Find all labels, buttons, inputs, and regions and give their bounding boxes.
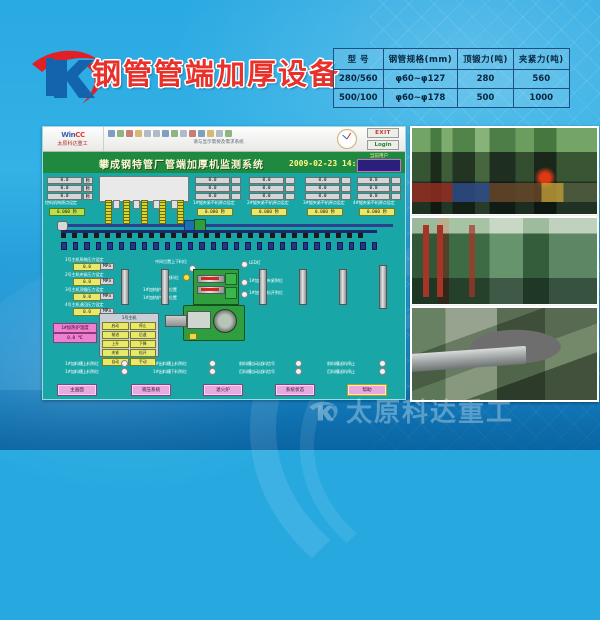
param-value: 0.0 <box>47 185 82 192</box>
hmi-title-bar: 攀成钢特管厂管端加厚机监测系统 2009-02-23 14:29:24 当前用户 <box>43 152 405 174</box>
param-value: 0.0 <box>305 193 340 200</box>
machine-control-panel: 1号主机 启动 停止 前进 后退 上升 下降 夹紧 松开 自动 手动 <box>99 313 159 357</box>
photo-image <box>412 218 597 304</box>
exit-button[interactable]: EXIT <box>367 128 399 138</box>
param-value: 0.0 <box>357 177 390 184</box>
current-user-field[interactable] <box>357 159 401 172</box>
param-unit: 秒 <box>83 185 93 192</box>
param-value: 0.0 <box>195 193 230 200</box>
roller <box>360 242 366 250</box>
control-panel-title: 1号主机 <box>100 314 158 321</box>
control-btn[interactable]: 下降 <box>130 340 157 348</box>
status-lamp-1 <box>121 360 128 367</box>
spec-header-upset-force: 顶锻力(吨) <box>458 49 514 70</box>
roller <box>61 242 67 250</box>
cell-upset-force: 280 <box>458 70 514 89</box>
valve-4 <box>171 200 178 209</box>
roller-top <box>83 233 88 238</box>
roller-top <box>138 233 143 238</box>
setting-value-2[interactable]: 0.0 <box>73 278 101 286</box>
roller <box>337 242 343 250</box>
watermark: 太原科达重工 <box>306 392 514 429</box>
roller-top <box>171 233 176 238</box>
param-group-left: 0.0 秒 0.0 秒 0.0 秒 <box>47 177 93 200</box>
roller-top <box>94 233 99 238</box>
param-unit <box>285 193 295 200</box>
led-label: LED灯 <box>249 260 261 266</box>
cell-pipe-size: φ60~φ127 <box>383 70 457 89</box>
photo-pipe-closeup <box>410 306 599 402</box>
valve-2 <box>133 200 140 209</box>
vertical-cylinder-3 <box>259 269 267 305</box>
param-group-1-readout: 0.000 秒 <box>197 208 233 216</box>
table-row: 500/100 φ60~φ178 500 1000 <box>334 89 570 108</box>
param-unit: 秒 <box>83 177 93 184</box>
valve-1 <box>113 200 120 209</box>
hmi-toolbar: WinCC 太原科达重工 请与显示需要及需求系统 <box>43 127 405 152</box>
status-label-6: 后料槽自动送料信号 <box>239 369 275 375</box>
current-user-box: 当前用户 <box>357 153 401 172</box>
paste-icon[interactable] <box>162 130 169 137</box>
furnace-temp-label: 1#加热炉温度 <box>53 323 97 333</box>
roller-top <box>226 233 231 238</box>
table-row: 280/560 φ60~φ127 280 560 <box>334 70 570 89</box>
param-group-1-caption: 1#锯夹紧不机原点设定 <box>193 200 235 206</box>
hmi-system-title: 攀成钢特管厂管端加厚机监测系统 <box>99 156 264 171</box>
param-group-4-caption: 4#锯夹紧不机原点设定 <box>353 200 395 206</box>
nav-button-hydraulic[interactable]: 液压系统 <box>131 384 171 396</box>
valve-block-1 <box>225 273 237 285</box>
status-label-5: 前料槽自动送料信号 <box>239 361 275 367</box>
roller <box>199 242 205 250</box>
param-group-2-caption: 2#锯夹紧不机原点设定 <box>247 200 289 206</box>
param-value: 0.0 <box>195 185 230 192</box>
vertical-cylinder-2 <box>161 269 169 305</box>
param-value: 0.0 <box>357 185 390 192</box>
param-unit <box>341 177 351 184</box>
valve-block-2 <box>225 287 237 299</box>
login-button[interactable]: Login <box>367 140 399 150</box>
roller-top <box>259 233 264 238</box>
roller-top <box>314 233 319 238</box>
center-position-label: 中间位置上下料位 <box>155 259 187 265</box>
new-icon[interactable] <box>108 130 115 137</box>
control-btn[interactable]: 夹紧 <box>102 349 129 357</box>
furnace-in-label: 1#加热炉进料位置 <box>143 287 177 293</box>
roller <box>303 242 309 250</box>
roller-top <box>292 233 297 238</box>
print-icon[interactable] <box>135 130 142 137</box>
hmi-screenshot-panel: WinCC 太原科达重工 请与显示需要及需求系统 <box>42 126 406 400</box>
photo-image <box>412 308 597 400</box>
photo-image <box>412 128 597 214</box>
roller <box>188 242 194 250</box>
status-lamp-5 <box>295 360 302 367</box>
param-value: 0.0 <box>249 185 284 192</box>
param-unit <box>231 177 241 184</box>
roller <box>84 242 90 250</box>
roller <box>176 242 182 250</box>
control-cabinet <box>187 311 211 329</box>
roller <box>280 242 286 250</box>
watermark-logo-icon <box>306 396 340 426</box>
roller <box>245 242 251 250</box>
vertical-cylinder-4 <box>299 269 307 305</box>
setting-unit-2: MPa <box>100 278 114 285</box>
slide-title: 钢管管端加厚设备 <box>92 52 340 92</box>
gauge-dial-icon <box>337 129 357 149</box>
roller <box>268 242 274 250</box>
status-label-7: 前料槽送料停止 <box>327 361 355 367</box>
param-group-2: 0.0 0.0 0.0 <box>249 177 295 200</box>
status-lamp-7 <box>379 360 386 367</box>
param-unit <box>341 193 351 200</box>
roller-top <box>61 233 66 238</box>
clamp-done-lamp <box>241 279 248 286</box>
roller-top <box>336 233 341 238</box>
param-group-left-readout: 0.000 秒 <box>49 208 85 216</box>
heating-column-5 <box>177 200 184 227</box>
status-lamp-led <box>241 261 248 268</box>
vertical-cylinder-6 <box>379 265 387 309</box>
setting-value-3[interactable]: 0.0 <box>73 293 101 301</box>
roller-top <box>127 233 132 238</box>
roller <box>165 242 171 250</box>
nav-button-furnace[interactable]: 退火炉 <box>203 384 243 396</box>
param-value: 0.0 <box>47 193 82 200</box>
rotary-head <box>213 309 237 333</box>
spec-header-clamp-force: 夹紧力(吨) <box>513 49 569 70</box>
redo-icon[interactable] <box>180 130 187 137</box>
param-group-3-readout: 0.000 秒 <box>307 208 343 216</box>
roller <box>107 242 113 250</box>
control-btn[interactable]: 上升 <box>102 340 129 348</box>
vertical-cylinder-5 <box>339 269 347 305</box>
cell-clamp-force: 560 <box>513 70 569 89</box>
roller-row-top <box>61 233 377 241</box>
roller <box>119 242 125 250</box>
trend-icon[interactable] <box>207 130 214 137</box>
roller-top <box>237 233 242 238</box>
roller <box>349 242 355 250</box>
spec-header-pipe-size: 钢管规格(mm) <box>383 49 457 70</box>
param-group-1: 0.0 0.0 0.0 <box>195 177 241 200</box>
roller <box>153 242 159 250</box>
param-unit <box>341 185 351 192</box>
indicator-yellow <box>189 333 197 340</box>
roller-top <box>215 233 220 238</box>
photo-rolling-mill <box>410 126 599 216</box>
wincc-vendor-sub: 太原科达重工 <box>58 139 88 146</box>
setting-unit-1: MPa <box>100 263 114 270</box>
param-unit <box>285 177 295 184</box>
status-label-1: 1#加料槽上料到位 <box>65 361 99 367</box>
gauge-widget <box>333 127 361 151</box>
roller <box>257 242 263 250</box>
cell-model: 500/100 <box>334 89 384 108</box>
roller <box>96 242 102 250</box>
photo-workshop <box>410 216 599 306</box>
roller <box>73 242 79 250</box>
control-btn[interactable]: 启动 <box>102 322 129 330</box>
roller <box>372 242 378 250</box>
spec-table-header-row: 型 号 钢管规格(mm) 顶锻力(吨) 夹紧力(吨) <box>334 49 570 70</box>
roller <box>326 242 332 250</box>
roller-top <box>149 233 154 238</box>
toolbar-caption: 请与显示需要及需求系统 <box>104 139 333 145</box>
valve-3 <box>153 200 160 209</box>
feed-position-lamp <box>183 274 190 281</box>
setting-unit-3: MPa <box>100 293 114 300</box>
control-btn[interactable]: 松开 <box>130 349 157 357</box>
roller-top <box>105 233 110 238</box>
setting-value-1[interactable]: 0.0 <box>73 263 101 271</box>
param-group-3-caption: 3#锯夹紧不机原点设定 <box>303 200 345 206</box>
release-done-lamp <box>241 291 248 298</box>
hmi-mimic-diagram: 0.0 秒 0.0 秒 0.0 秒 控料机构原点设定 0.000 秒 0.0 0… <box>43 173 405 399</box>
open-icon[interactable] <box>117 130 124 137</box>
setting-value-4[interactable]: 0.0 <box>73 308 101 316</box>
heating-column-2 <box>123 200 130 227</box>
status-lamp-4 <box>209 368 216 375</box>
hmi-toolbar-actions: EXIT Login <box>361 127 405 151</box>
cell-model: 280/560 <box>334 70 384 89</box>
roller <box>222 242 228 250</box>
param-group-2-readout: 0.000 秒 <box>251 208 287 216</box>
hopper-vessel <box>99 176 189 202</box>
vertical-cylinder-1 <box>121 269 129 305</box>
param-unit <box>231 193 241 200</box>
hmi-toolbar-icons[interactable]: 请与显示需要及需求系统 <box>104 127 333 151</box>
save-icon[interactable] <box>126 130 133 137</box>
roller-top <box>193 233 198 238</box>
roller-top <box>160 233 165 238</box>
roller-top <box>358 233 363 238</box>
heating-column-3 <box>141 200 148 227</box>
wincc-logo: WinCC 太原科达重工 <box>43 127 104 151</box>
undo-icon[interactable] <box>171 130 178 137</box>
heating-column-4 <box>159 200 166 227</box>
cell-clamp-force: 1000 <box>513 89 569 108</box>
spec-table: 型 号 钢管规格(mm) 顶锻力(吨) 夹紧力(吨) 280/560 φ60~φ… <box>333 48 570 108</box>
status-label-3: 1#出料槽上料到位 <box>153 361 187 367</box>
spec-header-model: 型 号 <box>334 49 384 70</box>
control-btn[interactable]: 前进 <box>102 331 129 339</box>
roller <box>211 242 217 250</box>
cell-pipe-size: φ60~φ178 <box>383 89 457 108</box>
cut-icon[interactable] <box>144 130 151 137</box>
watermark-text: 太原科达重工 <box>346 392 514 429</box>
cell-upset-force: 500 <box>458 89 514 108</box>
roller-top <box>182 233 187 238</box>
nav-button-main[interactable]: 主画面 <box>57 384 97 396</box>
roller <box>130 242 136 250</box>
param-value: 0.0 <box>47 177 82 184</box>
furnace-temp-value: 0.0 ℃ <box>53 333 97 343</box>
roller-top <box>204 233 209 238</box>
main-pipeline <box>63 224 393 227</box>
param-group-3: 0.0 0.0 0.0 <box>305 177 351 200</box>
status-label-4: 1#出料槽下料到位 <box>153 369 187 375</box>
param-group-4: 0.0 0.0 0.0 <box>357 177 401 200</box>
roller-top <box>72 233 77 238</box>
control-btn[interactable]: 停止 <box>130 322 157 330</box>
param-unit <box>391 185 401 192</box>
roller-row-bottom <box>61 242 377 250</box>
roller-top <box>281 233 286 238</box>
param-unit <box>231 185 241 192</box>
control-btn[interactable]: 后退 <box>130 331 157 339</box>
cylinder-rod-2 <box>201 288 219 291</box>
param-value: 0.0 <box>305 185 340 192</box>
param-unit: 秒 <box>83 193 93 200</box>
roller-top <box>325 233 330 238</box>
param-unit <box>285 185 295 192</box>
param-unit <box>391 193 401 200</box>
furnace-out-label: 1#加热炉出料位置 <box>143 295 177 301</box>
report-icon[interactable] <box>216 130 223 137</box>
roller <box>291 242 297 250</box>
param-value: 0.0 <box>249 177 284 184</box>
roller <box>314 242 320 250</box>
settings-icon[interactable] <box>225 130 232 137</box>
roller-top <box>270 233 275 238</box>
spindle <box>165 315 187 327</box>
param-value: 0.0 <box>305 177 340 184</box>
status-lamp-3 <box>209 360 216 367</box>
roller <box>142 242 148 250</box>
cylinder-rod-1 <box>201 277 219 280</box>
zoom-icon[interactable] <box>189 130 196 137</box>
status-lamp-2 <box>121 368 128 375</box>
status-lamp-6 <box>295 368 302 375</box>
heating-column-1 <box>105 200 112 227</box>
status-label-8: 后料槽送料停止 <box>327 369 355 375</box>
copy-icon[interactable] <box>153 130 160 137</box>
roller <box>234 242 240 250</box>
roller-top <box>116 233 121 238</box>
roller-top <box>248 233 253 238</box>
status-label-2: 1#加料槽上料到位 <box>65 369 99 375</box>
roller-top <box>347 233 352 238</box>
param-unit <box>391 177 401 184</box>
param-group-4-readout: 0.000 秒 <box>359 208 395 216</box>
roller-top <box>303 233 308 238</box>
param-group-left-caption: 控料机构原点设定 <box>45 200 77 206</box>
alarm-icon[interactable] <box>198 130 205 137</box>
status-lamp-8 <box>379 368 386 375</box>
param-value: 0.0 <box>357 193 390 200</box>
param-value: 0.0 <box>195 177 230 184</box>
param-value: 0.0 <box>249 193 284 200</box>
